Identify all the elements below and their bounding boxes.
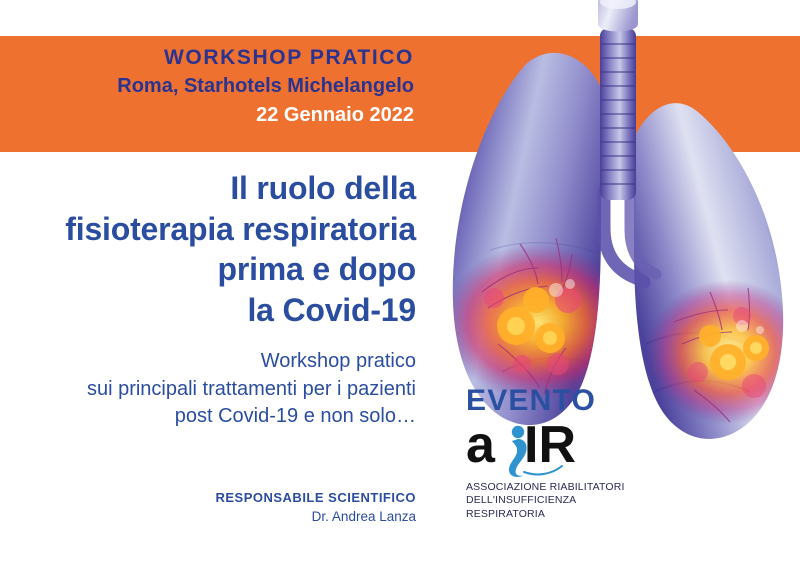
scientific-director-label: RESPONSABILE SCIENTIFICO [0, 489, 416, 507]
logo-tagline-line-2: DELL'INSUFFICIENZA RESPIRATORIA [466, 494, 656, 521]
logo-tagline: ASSOCIAZIONE RIABILITATORI DELL'INSUFFIC… [466, 481, 656, 521]
page-subtitle: Workshop pratico sui principali trattame… [0, 348, 424, 431]
title-line-1: Il ruolo della [0, 168, 416, 209]
subtitle-line-3: post Covid-19 e non solo… [0, 403, 416, 431]
logo-tagline-line-1: ASSOCIAZIONE RIABILITATORI [466, 481, 656, 494]
arir-logo: EVENTO a IR ASSOCIAZIONE RIABILITATORI D… [466, 386, 656, 521]
workshop-label: WORKSHOP PRATICO [0, 46, 414, 69]
scientific-director-name: Dr. Andrea Lanza [0, 507, 416, 527]
subtitle-line-1: Workshop pratico [0, 348, 416, 376]
arir-logomark: a IR [466, 418, 616, 478]
page-title: Il ruolo della fisioterapia respiratoria… [0, 168, 424, 331]
venue-label: Roma, Starhotels Michelangelo [0, 73, 414, 99]
logo-letter-a: a [466, 418, 496, 474]
title-line-4: la Covid-19 [0, 290, 416, 331]
event-poster: WORKSHOP PRATICO Roma, Starhotels Michel… [0, 0, 800, 564]
title-line-3: prima e dopo [0, 249, 416, 290]
logo-evento-text: EVENTO [466, 386, 656, 416]
logo-letters-ir: IR [524, 418, 576, 474]
date-label: 22 Gennaio 2022 [0, 102, 414, 128]
title-line-2: fisioterapia respiratoria [0, 209, 416, 250]
scientific-director-block: RESPONSABILE SCIENTIFICO Dr. Andrea Lanz… [0, 489, 424, 527]
banner-text-block: WORKSHOP PRATICO Roma, Starhotels Michel… [0, 36, 420, 152]
subtitle-line-2: sui principali trattamenti per i pazient… [0, 376, 416, 404]
